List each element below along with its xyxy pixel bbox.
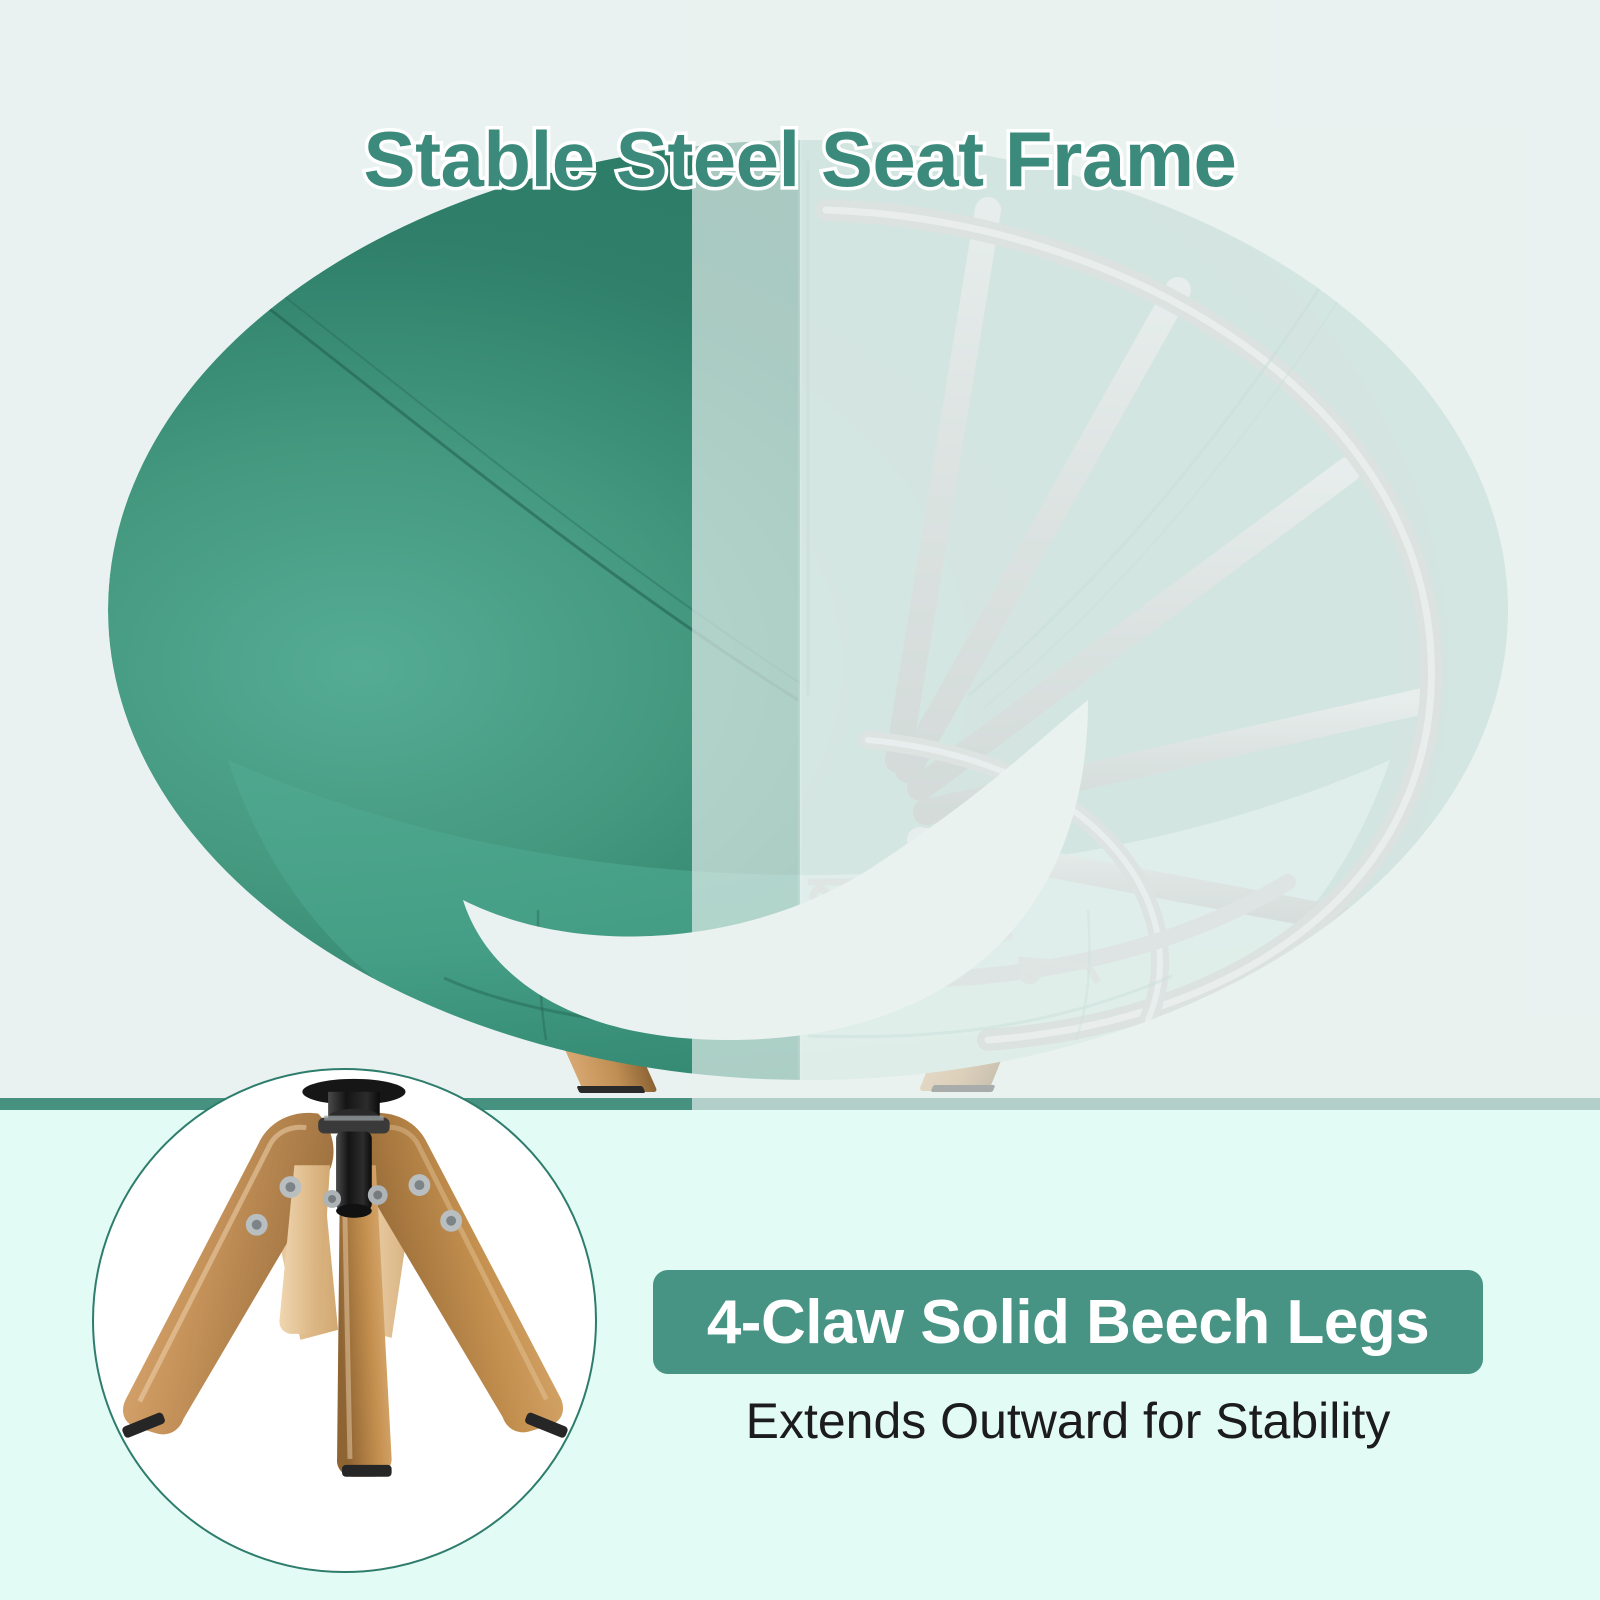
xray-split-line (798, 140, 802, 1100)
leg-foot-cap-center (342, 1465, 392, 1477)
hero-chair-figure (108, 140, 1512, 1100)
infographic-canvas: Stable Steel Seat Frame (0, 0, 1600, 1600)
leg-base-detail-inset (92, 1068, 597, 1573)
feature-badge-label: 4-Claw Solid Beech Legs (707, 1287, 1429, 1358)
feature-subtitle: Extends Outward for Stability (653, 1392, 1483, 1450)
page-title: Stable Steel Seat Frame (0, 114, 1600, 205)
chair-shell (108, 140, 1512, 1100)
feature-badge: 4-Claw Solid Beech Legs (653, 1270, 1483, 1374)
